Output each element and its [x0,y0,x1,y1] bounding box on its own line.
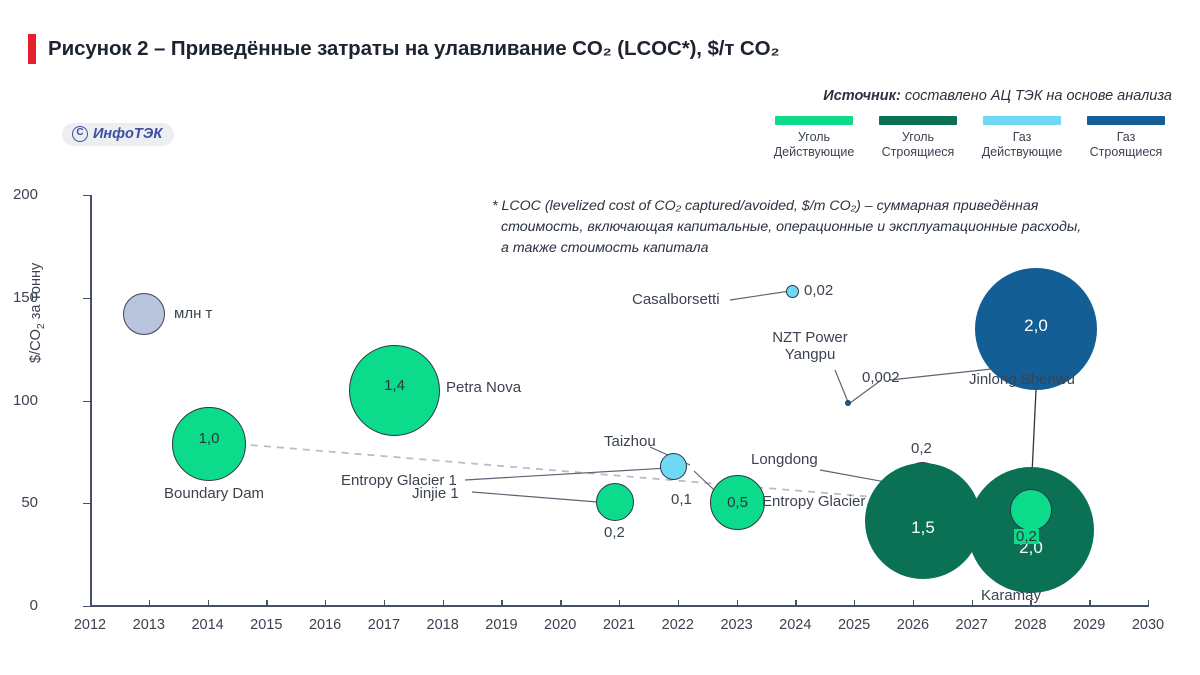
leader-nzt-power-value [850,381,880,403]
x-tick [854,600,855,607]
label-petra-nova: Petra Nova [446,379,521,396]
x-tick-label: 2025 [828,617,880,633]
bubble-value: 0,5 [727,495,748,510]
legend-swatch-gas-construction [1087,116,1165,125]
x-tick [90,600,91,607]
chart-page: Рисунок 2 – Приведённые затраты на улавл… [0,0,1200,675]
size-legend-bubble [123,293,165,335]
legend-label-line1: Газ [976,130,1068,145]
legend-label-line1: Уголь [768,130,860,145]
x-tick [913,600,914,607]
label-entropy-glacier-2: Entropy Glacier 2 [762,493,878,510]
label-jinlong-shenwu: Jinlong Shenwu [969,371,1075,388]
y-tick-label: 0 [0,597,38,614]
x-tick [149,600,150,607]
x-tick [208,600,209,607]
x-tick-label: 2019 [475,617,527,633]
legend-label-line1: Уголь [872,130,964,145]
y-tick-label: 100 [0,392,38,409]
y-axis-line [90,195,92,607]
bubble-coal-construction-1-5[interactable]: 1,5 [865,463,981,579]
legend-swatch-gas-operating [983,116,1061,125]
bubble-value-casalborsetti: 0,02 [804,283,833,298]
title-accent-bar [28,34,36,64]
x-tick [266,600,267,607]
x-tick [384,600,385,607]
bubble-value: 1,4 [384,378,405,393]
legend-label-line1: Газ [1080,130,1172,145]
y-tick-label: 200 [0,186,38,203]
label-taizhou: Taizhou [604,433,656,450]
bubble-jinjie-1[interactable] [596,483,634,521]
label-karamay: Karamay [981,587,1041,604]
legend-label-line2: Строящиеся [1080,145,1172,160]
x-tick [678,600,679,607]
leader-jinjie-1 [472,492,610,503]
bubble-boundary-dam[interactable]: 1,0 [172,407,246,481]
bubble-value: 2,0 [1019,539,1043,556]
bubble-petra-nova[interactable]: 1,4 [349,345,440,436]
bubble-nzt-power-yangpu[interactable] [845,400,851,406]
label-nzt-power-yangpu: NZT PowerYangpu [750,329,870,363]
legend-item-gas-construction[interactable]: Газ Строящиеся [1080,116,1172,160]
label-boundary-dam: Boundary Dam [164,485,264,502]
y-axis-title: $/CO2 за тонну [28,263,47,363]
x-tick-label: 2030 [1122,617,1174,633]
bubble-entropy-glacier-2[interactable]: 0,5 [710,475,765,530]
leader-entropy-glacier-1 [465,467,685,480]
legend: Уголь Действующие Уголь Строящиеся Газ Д… [768,116,1172,160]
source-note: Источник: составлено АЦ ТЭК на основе ан… [823,88,1172,104]
bubble-value-longdong: 0,2 [911,441,932,456]
x-tick [737,600,738,607]
y-tick [83,606,90,607]
x-tick-label: 2029 [1063,617,1115,633]
legend-label-line2: Действующие [976,145,1068,160]
y-tick-label: 150 [0,289,38,306]
x-tick-label: 2012 [64,617,116,633]
plot-area: $/CO2 за тонну 0 50 100 150 200 2012 2 [90,195,1148,607]
legend-swatch-coal-operating [775,116,853,125]
x-tick-label: 2024 [769,617,821,633]
x-tick-label: 2015 [240,617,292,633]
y-tick [83,298,90,299]
x-tick [560,600,561,607]
bubble-taizhou[interactable] [660,453,687,480]
source-prefix: Источник: [823,88,901,104]
leader-casalborsetti [730,291,790,300]
legend-item-gas-operating[interactable]: Газ Действующие [976,116,1068,160]
x-tick-label: 2026 [887,617,939,633]
x-tick [1148,600,1149,607]
x-tick-label: 2028 [1004,617,1056,633]
legend-swatch-coal-construction [879,116,957,125]
bubble-value-taizhou: 0,1 [671,492,692,507]
x-tick-label: 2020 [534,617,586,633]
x-tick-label: 2021 [593,617,645,633]
x-tick [795,600,796,607]
x-tick-label: 2016 [299,617,351,633]
x-tick [972,600,973,607]
legend-item-coal-construction[interactable]: Уголь Строящиеся [872,116,964,160]
x-tick [325,600,326,607]
x-tick-label: 2023 [711,617,763,633]
bubble-karamay-inset-0-2[interactable] [1010,489,1052,531]
y-tick [83,195,90,196]
label-casalborsetti: Casalborsetti [632,291,720,308]
watermark-badge: C ИнфоТЭК [62,123,174,146]
bubble-value: 1,5 [911,519,935,536]
title-text: Рисунок 2 – Приведённые затраты на улавл… [48,37,779,61]
x-tick-label: 2018 [417,617,469,633]
bubble-value: 2,0 [1024,317,1048,334]
y-tick [83,401,90,402]
x-tick-label: 2014 [182,617,234,633]
page-title: Рисунок 2 – Приведённые затраты на улавл… [28,34,779,64]
x-tick [1089,600,1090,607]
copyright-icon: C [72,126,88,142]
size-legend-label: млн т [174,305,212,322]
legend-label-line2: Действующие [768,145,860,160]
legend-label-line2: Строящиеся [872,145,964,160]
x-tick-label: 2017 [358,617,410,633]
leader-nzt-power-yangpu [835,370,848,402]
bubble-value: 1,0 [199,431,220,446]
label-entropy-glacier-1: Entropy Glacier 1 [341,472,457,489]
source-text: составлено АЦ ТЭК на основе анализа [901,88,1172,104]
bubble-value-nzt-power-yangpu: 0,002 [862,370,900,385]
x-tick [619,600,620,607]
bubble-casalborsetti[interactable] [786,285,799,298]
x-tick-label: 2013 [123,617,175,633]
x-tick-label: 2022 [652,617,704,633]
x-tick [501,600,502,607]
x-tick [443,600,444,607]
label-longdong: Longdong [751,451,818,468]
bubble-value-jinjie-1: 0,2 [604,525,625,540]
y-tick-label: 50 [0,494,38,511]
legend-item-coal-operating[interactable]: Уголь Действующие [768,116,860,160]
x-tick-label: 2027 [946,617,998,633]
y-tick [83,503,90,504]
watermark-label: ИнфоТЭК [93,126,162,142]
